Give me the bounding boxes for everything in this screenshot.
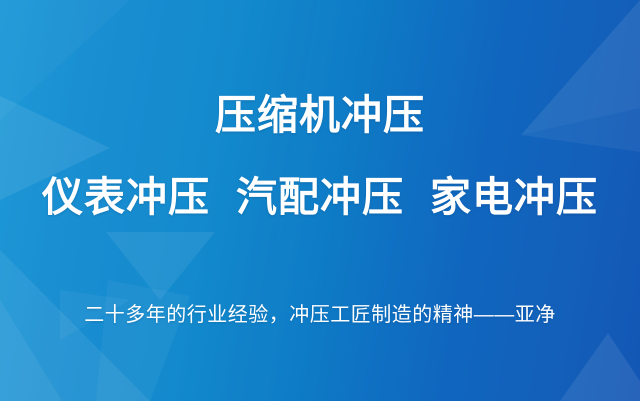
headline-secondary: 仪表冲压汽配冲压家电冲压 <box>0 177 640 218</box>
headline-secondary-segment-1: 仪表冲压 <box>42 177 210 218</box>
headline-secondary-segment-2: 汽配冲压 <box>236 177 404 218</box>
tagline: 二十多年的行业经验，冲压工匠制造的精神——亚净 <box>0 303 640 327</box>
promo-banner: 压缩机冲压 仪表冲压汽配冲压家电冲压 二十多年的行业经验，冲压工匠制造的精神——… <box>0 0 640 401</box>
banner-content: 压缩机冲压 仪表冲压汽配冲压家电冲压 二十多年的行业经验，冲压工匠制造的精神——… <box>0 0 640 401</box>
headline-primary: 压缩机冲压 <box>0 95 640 136</box>
headline-secondary-segment-3: 家电冲压 <box>430 177 598 218</box>
